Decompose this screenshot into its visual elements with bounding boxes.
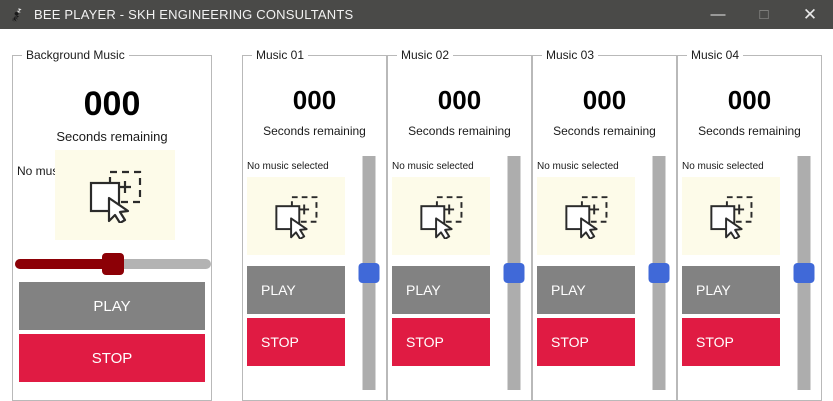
counter-caption-music-04: Seconds remaining xyxy=(678,124,821,138)
volume-slider-music-03[interactable] xyxy=(646,156,672,390)
groupbox-music-03: Music 03 000 Seconds remaining No music … xyxy=(532,55,677,401)
bee-icon xyxy=(10,7,26,23)
play-button-music-01[interactable]: PLAY xyxy=(247,266,345,314)
counter-caption-music-03: Seconds remaining xyxy=(533,124,676,138)
stop-button-music-02[interactable]: STOP xyxy=(392,318,490,366)
counter-value-music-04: 000 xyxy=(678,85,821,116)
groupbox-legend-music-02: Music 02 xyxy=(397,48,453,62)
volume-slider-thumb[interactable] xyxy=(102,253,124,275)
groupbox-music-01: Music 01 000 Seconds remaining No music … xyxy=(242,55,387,401)
groupbox-music-04: Music 04 000 Seconds remaining No music … xyxy=(677,55,822,401)
counter-caption-music-01: Seconds remaining xyxy=(243,124,386,138)
volume-slider-thumb[interactable] xyxy=(649,263,670,283)
stop-button-background-music[interactable]: STOP xyxy=(19,334,205,382)
window-controls: — □ ✕ xyxy=(695,0,833,29)
groupbox-music-02: Music 02 000 Seconds remaining No music … xyxy=(387,55,532,401)
app-window: BEE PLAYER - SKH ENGINEERING CONSULTANTS… xyxy=(0,0,833,401)
counter-value-music-01: 000 xyxy=(243,85,386,116)
status-label-music-02: No music selected xyxy=(392,161,474,172)
picturebox-music-04[interactable] xyxy=(682,177,780,255)
counter-value-music-03: 000 xyxy=(533,85,676,116)
minimize-button[interactable]: — xyxy=(695,0,741,29)
window-title: BEE PLAYER - SKH ENGINEERING CONSULTANTS xyxy=(34,7,353,22)
status-label-music-03: No music selected xyxy=(537,161,619,172)
status-label-music-04: No music selected xyxy=(682,161,764,172)
volume-slider-music-01[interactable] xyxy=(356,156,382,390)
picturebox-music-01[interactable] xyxy=(247,177,345,255)
volume-slider-background-music[interactable] xyxy=(15,252,211,276)
stop-button-music-04[interactable]: STOP xyxy=(682,318,780,366)
counter-value-music-02: 000 xyxy=(388,85,531,116)
picturebox-music-02[interactable] xyxy=(392,177,490,255)
volume-slider-fill xyxy=(15,259,113,269)
picturebox-background-music[interactable] xyxy=(55,150,175,240)
status-label-music-01: No music selected xyxy=(247,161,329,172)
groupbox-legend-background-music: Background Music xyxy=(22,48,129,62)
picturebox-music-03[interactable] xyxy=(537,177,635,255)
groupbox-legend-music-03: Music 03 xyxy=(542,48,598,62)
title-bar: BEE PLAYER - SKH ENGINEERING CONSULTANTS… xyxy=(0,0,833,29)
select-file-icon xyxy=(82,167,148,223)
counter-caption-music-02: Seconds remaining xyxy=(388,124,531,138)
select-file-icon xyxy=(269,193,323,239)
groupbox-background-music: Background Music 000 Seconds remaining N… xyxy=(12,55,212,401)
close-button[interactable]: ✕ xyxy=(787,0,833,29)
client-area: Background Music 000 Seconds remaining N… xyxy=(0,29,833,401)
select-file-icon xyxy=(559,193,613,239)
play-button-background-music[interactable]: PLAY xyxy=(19,282,205,330)
counter-value-background-music: 000 xyxy=(13,85,211,124)
play-button-music-02[interactable]: PLAY xyxy=(392,266,490,314)
stop-button-music-03[interactable]: STOP xyxy=(537,318,635,366)
select-file-icon xyxy=(414,193,468,239)
volume-slider-thumb[interactable] xyxy=(504,263,525,283)
groupbox-legend-music-01: Music 01 xyxy=(252,48,308,62)
select-file-icon xyxy=(704,193,758,239)
volume-slider-thumb[interactable] xyxy=(794,263,815,283)
volume-slider-music-04[interactable] xyxy=(791,156,817,390)
maximize-button[interactable]: □ xyxy=(741,0,787,29)
stop-button-music-01[interactable]: STOP xyxy=(247,318,345,366)
play-button-music-04[interactable]: PLAY xyxy=(682,266,780,314)
groupbox-legend-music-04: Music 04 xyxy=(687,48,743,62)
volume-slider-music-02[interactable] xyxy=(501,156,527,390)
play-button-music-03[interactable]: PLAY xyxy=(537,266,635,314)
volume-slider-thumb[interactable] xyxy=(359,263,380,283)
counter-caption-background-music: Seconds remaining xyxy=(13,129,211,144)
